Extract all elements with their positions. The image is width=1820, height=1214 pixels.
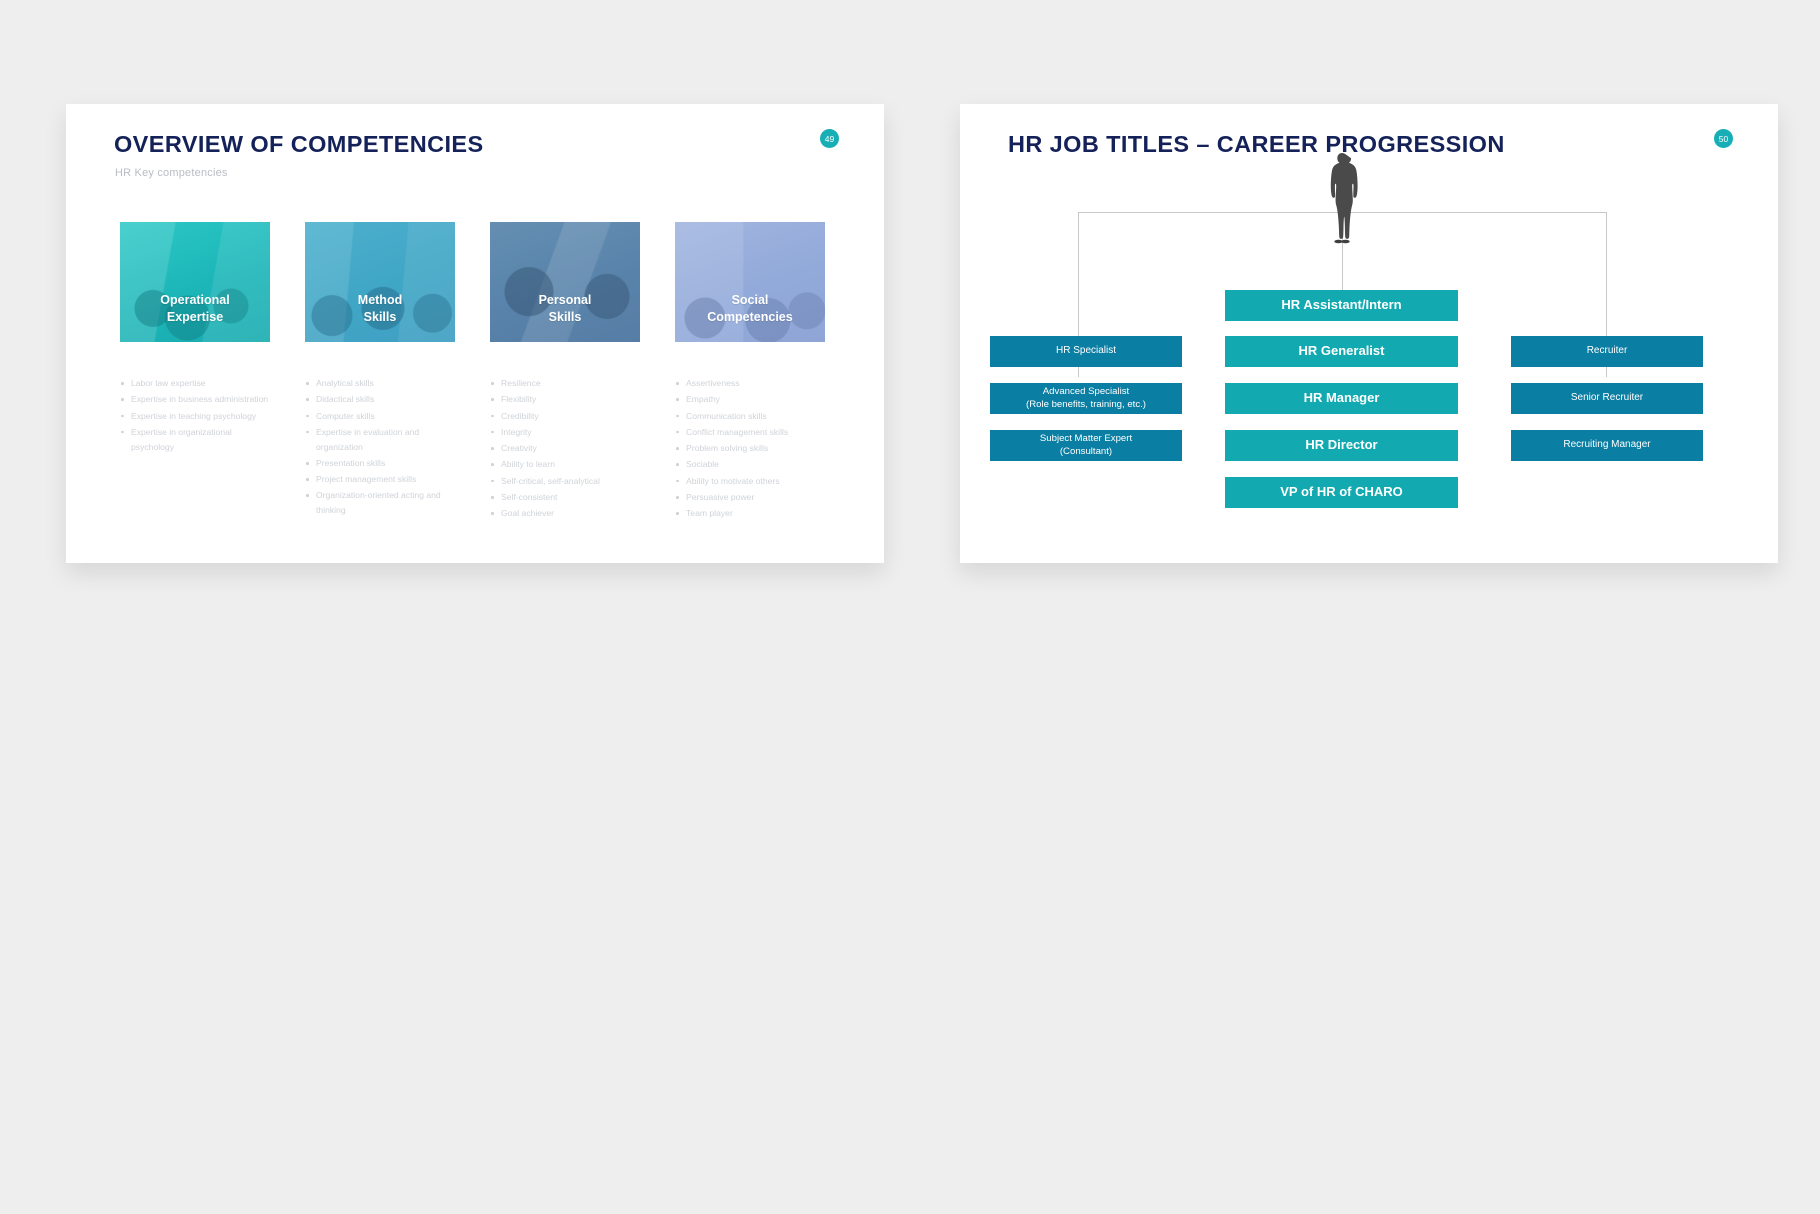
job-box-hr-generalist[interactable]: HR Generalist	[1225, 336, 1458, 367]
bullet-column-method-skills: Analytical skills Didactical skills Comp…	[305, 376, 457, 520]
card-label-line1: Personal	[539, 293, 592, 307]
list-item: Creativity	[490, 441, 642, 456]
card-label: Personal Skills	[539, 292, 592, 328]
list-item: Team player	[675, 506, 827, 521]
list-item: Sociable	[675, 457, 827, 472]
person-silhouette-icon	[1320, 150, 1364, 246]
card-label-line1: Method	[358, 293, 402, 307]
bullet-column-personal-skills: Resilience Flexibility Credibility Integ…	[490, 376, 642, 523]
job-box-hr-director[interactable]: HR Director	[1225, 430, 1458, 461]
list-item: Communication skills	[675, 409, 827, 424]
page-title: HR JOB TITLES – CAREER PROGRESSION	[1008, 131, 1505, 158]
card-label: Operational Expertise	[160, 292, 229, 328]
list-item: Assertiveness	[675, 376, 827, 391]
list-item: Expertise in teaching psychology	[120, 409, 272, 424]
job-box-hr-manager[interactable]: HR Manager	[1225, 383, 1458, 414]
list-item: Problem solving skills	[675, 441, 827, 456]
list-item: Ability to learn	[490, 457, 642, 472]
list-item: Resilience	[490, 376, 642, 391]
list-item: Analytical skills	[305, 376, 457, 391]
job-box-hr-assistant-intern[interactable]: HR Assistant/Intern	[1225, 290, 1458, 321]
card-label-line1: Operational	[160, 293, 229, 307]
job-box-recruiter[interactable]: Recruiter	[1511, 336, 1703, 367]
competency-card-operational-expertise[interactable]: Operational Expertise	[120, 222, 270, 342]
list-item: Goal achiever	[490, 506, 642, 521]
list-item: Empathy	[675, 392, 827, 407]
job-box-text: Advanced Specialist (Role benefits, trai…	[1026, 386, 1146, 411]
job-box-hr-specialist[interactable]: HR Specialist	[990, 336, 1182, 367]
list-item: Persuasive power	[675, 490, 827, 505]
slide-hr-job-titles[interactable]: HR JOB TITLES – CAREER PROGRESSION 50 HR…	[960, 104, 1778, 563]
card-label-line1: Social	[732, 293, 769, 307]
job-box-vp-of-hr[interactable]: VP of HR of CHARO	[1225, 477, 1458, 508]
list-item: Flexibility	[490, 392, 642, 407]
job-box-text: Subject Matter Expert (Consultant)	[1040, 433, 1132, 458]
card-label-line2: Competencies	[707, 310, 792, 324]
list-item: Self-consistent	[490, 490, 642, 505]
list-item: Self-critical, self-analytical	[490, 474, 642, 489]
card-label: Method Skills	[358, 292, 402, 328]
page-title: OVERVIEW OF COMPETENCIES	[114, 131, 484, 158]
competency-card-method-skills[interactable]: Method Skills	[305, 222, 455, 342]
bullet-column-operational-expertise: Labor law expertise Expertise in busines…	[120, 376, 272, 456]
slide-overview-of-competencies[interactable]: OVERVIEW OF COMPETENCIES HR Key competen…	[66, 104, 884, 563]
page-subtitle: HR Key competencies	[115, 167, 228, 179]
list-item: Expertise in organizational psychology	[120, 425, 272, 455]
list-item: Organization-oriented acting and thinkin…	[305, 488, 457, 518]
bullet-list: Analytical skills Didactical skills Comp…	[305, 376, 457, 518]
list-item: Labor law expertise	[120, 376, 272, 391]
competency-card-social-competencies[interactable]: Social Competencies	[675, 222, 825, 342]
card-label-line2: Skills	[549, 310, 582, 324]
list-item: Computer skills	[305, 409, 457, 424]
list-item: Didactical skills	[305, 392, 457, 407]
card-label-line2: Skills	[364, 310, 397, 324]
list-item: Integrity	[490, 425, 642, 440]
bullet-list: Resilience Flexibility Credibility Integ…	[490, 376, 642, 521]
bullet-column-social-competencies: Assertiveness Empathy Communication skil…	[675, 376, 827, 523]
job-box-subject-matter-expert[interactable]: Subject Matter Expert (Consultant)	[990, 430, 1182, 461]
job-box-senior-recruiter[interactable]: Senior Recruiter	[1511, 383, 1703, 414]
list-item: Ability to motivate others	[675, 474, 827, 489]
page-number-badge: 49	[820, 129, 839, 148]
list-item: Presentation skills	[305, 456, 457, 471]
card-label-line2: Expertise	[167, 310, 223, 324]
page-number-badge: 50	[1714, 129, 1733, 148]
bullet-list: Assertiveness Empathy Communication skil…	[675, 376, 827, 521]
list-item: Project management skills	[305, 472, 457, 487]
bullet-list: Labor law expertise Expertise in busines…	[120, 376, 272, 454]
job-box-advanced-specialist[interactable]: Advanced Specialist (Role benefits, trai…	[990, 383, 1182, 414]
competency-card-personal-skills[interactable]: Personal Skills	[490, 222, 640, 342]
list-item: Expertise in evaluation and organization	[305, 425, 457, 455]
list-item: Expertise in business administration	[120, 392, 272, 407]
list-item: Conflict management skills	[675, 425, 827, 440]
card-label: Social Competencies	[707, 292, 792, 328]
job-box-recruiting-manager[interactable]: Recruiting Manager	[1511, 430, 1703, 461]
list-item: Credibility	[490, 409, 642, 424]
